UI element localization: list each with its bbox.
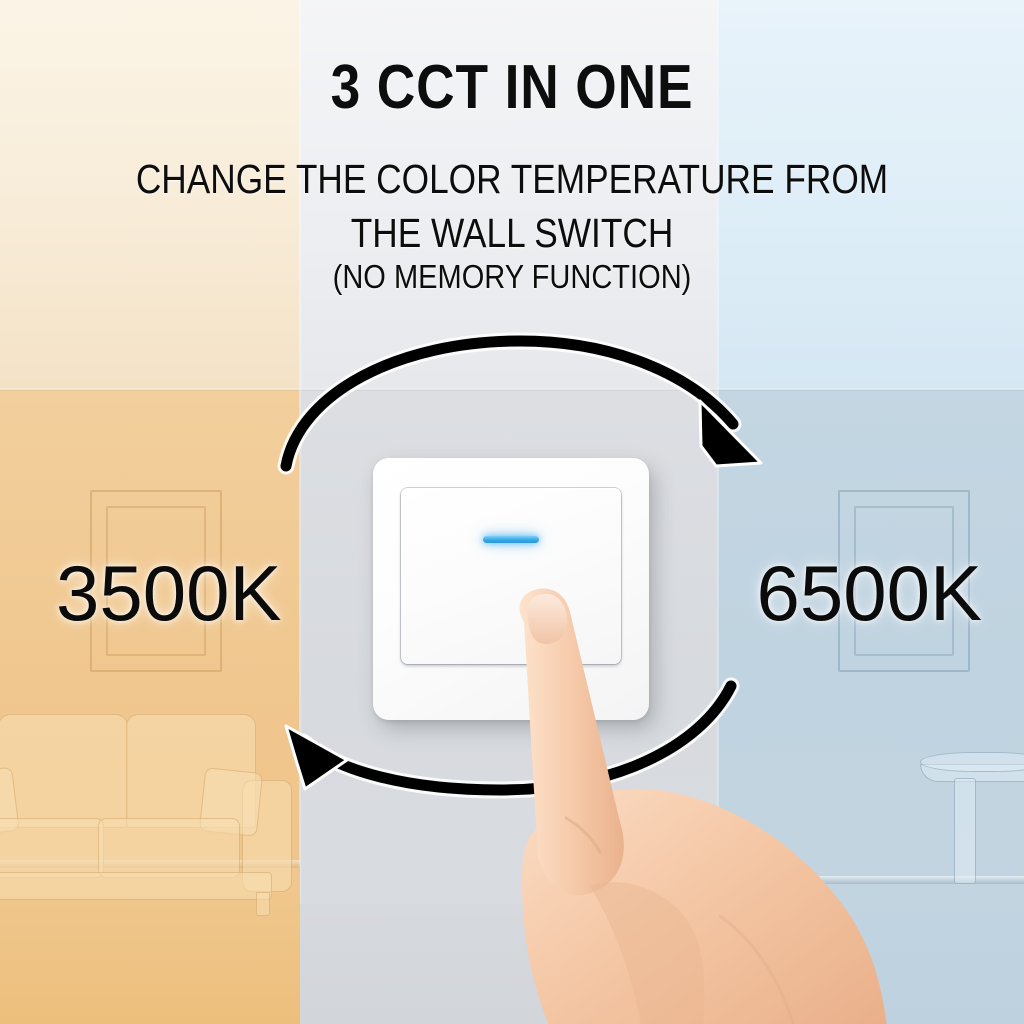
arrow-clockwise-top	[286, 341, 761, 466]
temperature-label-warm: 3500K	[56, 548, 282, 639]
led-indicator	[483, 536, 539, 543]
infographic-canvas: 3 CCT IN ONE CHANGE THE COLOR TEMPERATUR…	[0, 0, 1024, 1024]
hand-pressing-switch	[470, 586, 900, 1024]
